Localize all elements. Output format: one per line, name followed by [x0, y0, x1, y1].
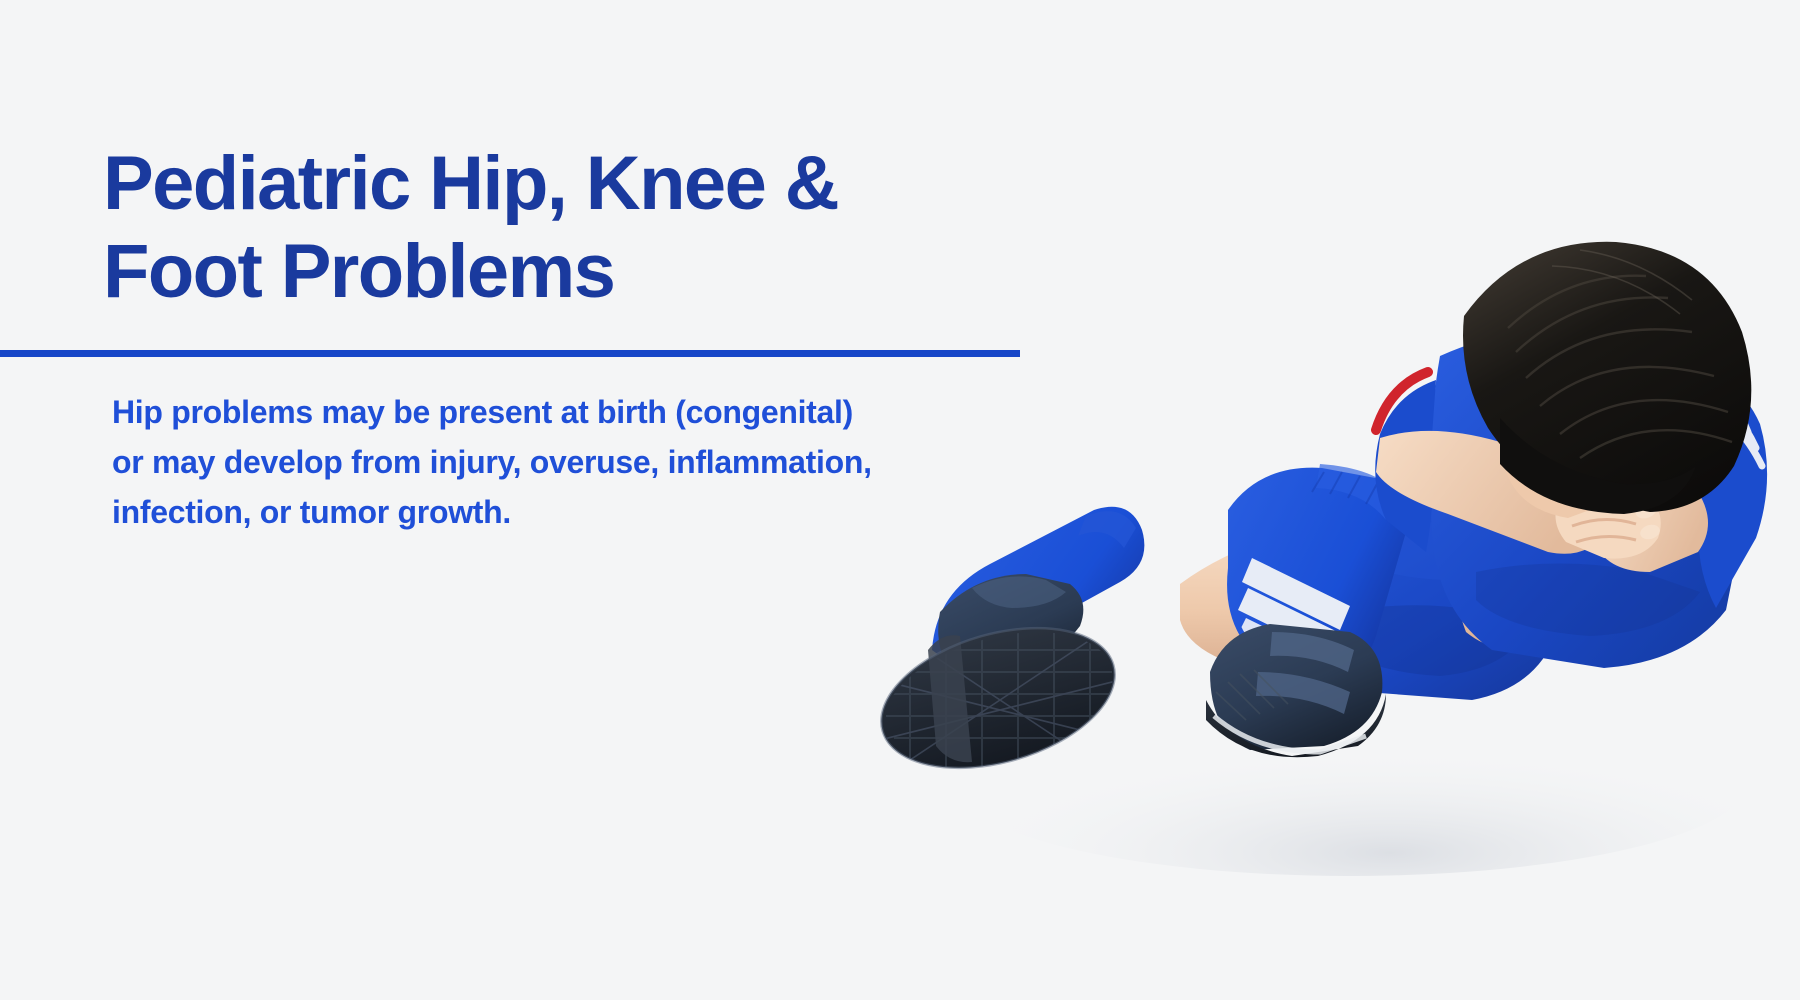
title-divider: [0, 350, 1020, 357]
banner: Pediatric Hip, Knee & Foot Problems Hip …: [0, 0, 1800, 1000]
hero-photo: [880, 180, 1800, 920]
shoe-right: [1206, 624, 1386, 757]
page-description: Hip problems may be present at birth (co…: [0, 388, 1000, 538]
